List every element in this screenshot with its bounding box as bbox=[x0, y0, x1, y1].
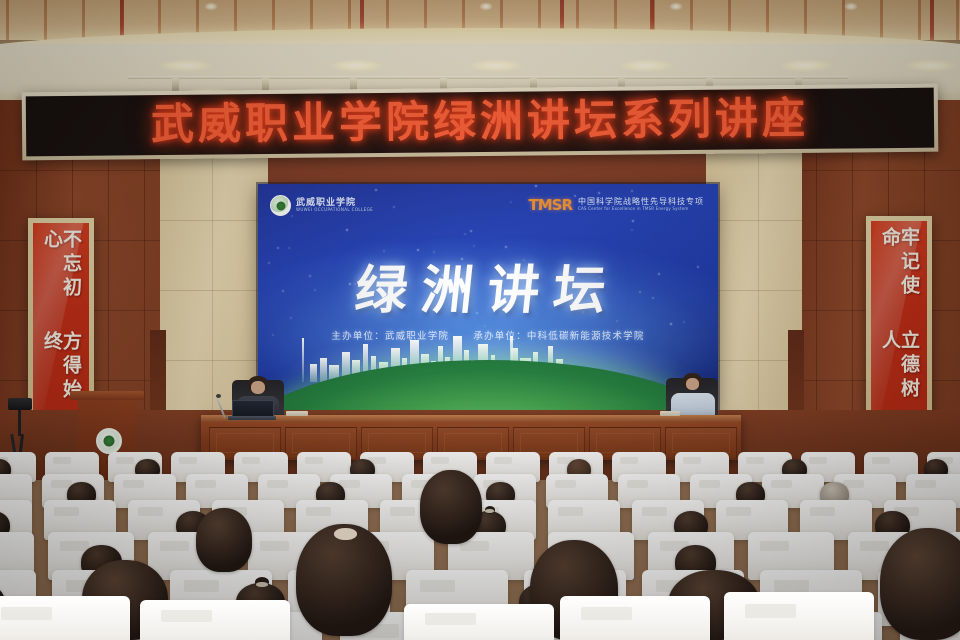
lectern-top bbox=[70, 391, 144, 400]
ceiling-downlight bbox=[905, 60, 957, 71]
seat-cover-front bbox=[560, 596, 710, 640]
seat-cover-front bbox=[404, 604, 554, 640]
right-red-banner: 牢记使命 立德树人 bbox=[866, 216, 932, 436]
screen-sparkle bbox=[464, 233, 466, 235]
audience-seating bbox=[0, 452, 960, 640]
projection-screen: 武威职业学院 WUWEI OCCUPATIONAL COLLEGE TMSR 中… bbox=[258, 184, 718, 410]
desk-nameplate-right bbox=[660, 411, 680, 416]
screen-logo-right: TMSR 中国科学院战略性先导科技专项 CAS Center for Excel… bbox=[528, 196, 704, 214]
ceiling-slat bbox=[6, 0, 9, 40]
hair-tie bbox=[256, 582, 269, 587]
screen-sparkle bbox=[535, 185, 537, 187]
ceiling-red-stripe bbox=[930, 0, 934, 40]
screen-city-graphic bbox=[258, 334, 718, 410]
college-name-cn: 武威职业学院 bbox=[296, 199, 373, 208]
ceiling-spotlight bbox=[670, 3, 682, 10]
tmsr-name-en: CAS Center for Excellence in TMSR Energy… bbox=[578, 207, 704, 211]
screen-sparkle bbox=[598, 192, 600, 194]
ceiling-downlight bbox=[470, 60, 522, 71]
wall-seam bbox=[790, 170, 960, 171]
ceiling-red-stripe bbox=[120, 0, 124, 40]
screen-sparkle bbox=[631, 190, 633, 192]
ceiling-downlight bbox=[330, 60, 382, 71]
video-camera-icon bbox=[8, 398, 32, 410]
ceiling-downlight bbox=[780, 60, 832, 71]
ceiling-spotlight bbox=[845, 3, 857, 10]
audience-head-foreground bbox=[880, 528, 960, 640]
college-name-en: WUWEI OCCUPATIONAL COLLEGE bbox=[296, 208, 373, 212]
ceiling-spotlight bbox=[480, 3, 492, 10]
seat-cover-front bbox=[724, 592, 874, 640]
ceiling-slat bbox=[918, 0, 921, 40]
seat-cover-front bbox=[140, 600, 290, 640]
college-seal-icon bbox=[96, 428, 122, 454]
desk-nameplate bbox=[286, 411, 308, 416]
tmsr-logo-icon: TMSR bbox=[528, 196, 572, 214]
screen-sparkle bbox=[393, 206, 395, 208]
screen-sparkle bbox=[346, 229, 348, 231]
skyline-building bbox=[320, 358, 327, 382]
screen-title: 绿洲讲坛 bbox=[258, 248, 718, 323]
screen-sparkle bbox=[484, 325, 486, 327]
audience-head-foreground bbox=[196, 508, 252, 572]
ceiling-downlight bbox=[160, 60, 212, 71]
desk-top-edge bbox=[201, 415, 741, 422]
led-screen: 武威职业学院绿洲讲坛系列讲座 bbox=[26, 88, 935, 157]
skyline-building bbox=[310, 364, 317, 382]
right-banner-line1: 牢记使命 bbox=[880, 227, 918, 322]
wall-seam bbox=[0, 170, 172, 171]
panel-seam bbox=[758, 150, 759, 450]
ceiling-slat bbox=[956, 0, 959, 40]
panel-seam bbox=[160, 360, 268, 361]
hair-tie bbox=[485, 509, 494, 513]
panel-seam bbox=[160, 290, 268, 291]
ceiling-spotlight bbox=[205, 3, 217, 10]
ceiling-slat bbox=[880, 0, 883, 40]
seat-cover-front bbox=[0, 596, 130, 640]
hair-tie bbox=[334, 528, 357, 539]
audience-head-foreground bbox=[296, 524, 392, 636]
screen-sparkle bbox=[473, 245, 475, 247]
lecture-hall-photo: 武威职业学院绿洲讲坛系列讲座 武威职业学院 WUWEI OCCUPATIONAL… bbox=[0, 0, 960, 640]
screen-sparkle bbox=[375, 189, 377, 191]
panel-seam bbox=[706, 220, 802, 221]
track-light-rail bbox=[128, 76, 848, 79]
audience-head-foreground bbox=[420, 470, 482, 544]
ceiling-downlight bbox=[620, 60, 672, 71]
laptop-base bbox=[228, 416, 276, 420]
panel-seam bbox=[212, 150, 213, 450]
panel-seam bbox=[160, 220, 268, 221]
microphone-head-icon bbox=[216, 394, 221, 398]
left-banner-line1: 不忘初心 bbox=[42, 229, 80, 323]
panel-seam bbox=[706, 290, 802, 291]
screen-sparkle bbox=[510, 201, 512, 203]
led-banner: 武威职业学院绿洲讲坛系列讲座 bbox=[22, 84, 939, 161]
college-seal-icon bbox=[270, 195, 291, 216]
screen-logo-left: 武威职业学院 WUWEI OCCUPATIONAL COLLEGE bbox=[270, 195, 373, 216]
ceiling-slat bbox=[82, 0, 85, 40]
skyline-spire bbox=[302, 338, 304, 382]
led-banner-text: 武威职业学院绿洲讲坛系列讲座 bbox=[151, 97, 809, 146]
screen-sparkle bbox=[632, 220, 634, 222]
ceiling-slat bbox=[44, 0, 47, 40]
screen-sparkle bbox=[470, 230, 472, 232]
